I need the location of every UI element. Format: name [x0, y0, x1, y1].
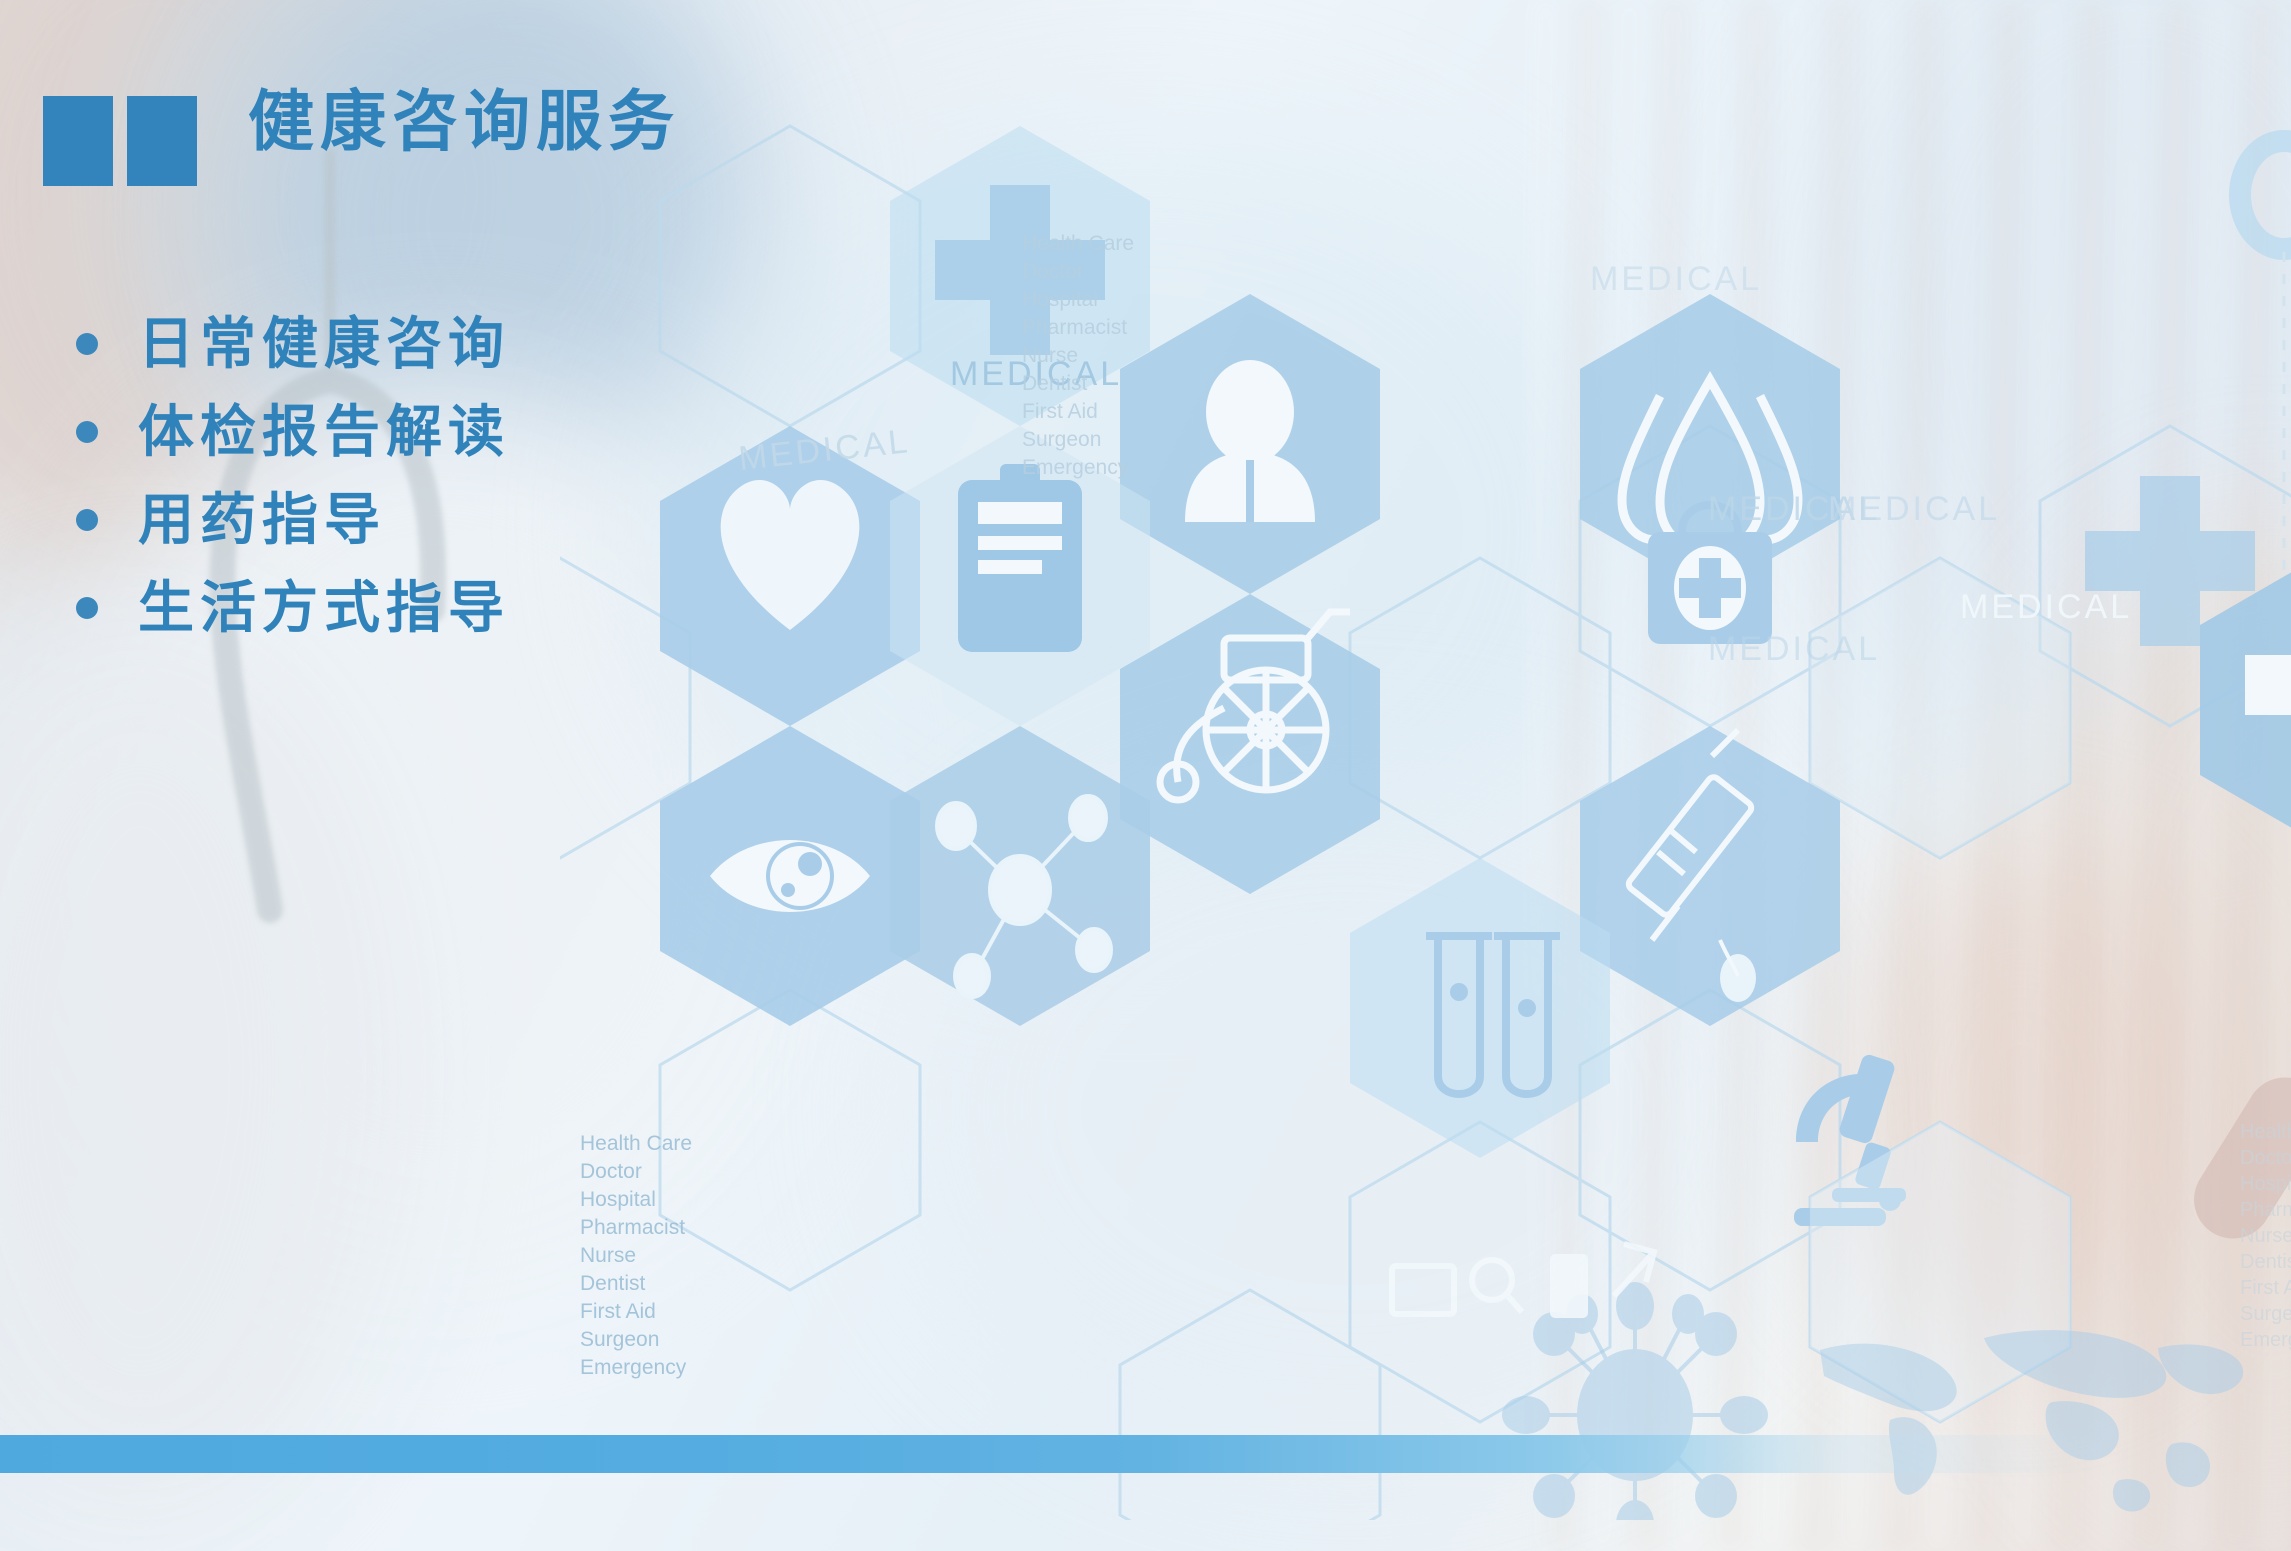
svg-text:Surgeon: Surgeon: [1022, 428, 1101, 451]
hexagon-infographic: MEDICAL MEDICAL MEDICAL MEDICAL MEDICAL …: [560, 40, 2291, 1520]
word-list-right: Health Care Doctor Hospital Pharmacist N…: [2240, 1121, 2291, 1351]
svg-text:Surgeon: Surgeon: [580, 1328, 659, 1351]
svg-text:Pharmacist: Pharmacist: [2240, 1199, 2291, 1221]
svg-text:Nurse: Nurse: [1022, 344, 1078, 367]
list-item: 体检报告解读: [76, 388, 636, 476]
svg-text:Dentist: Dentist: [1022, 372, 1088, 395]
svg-text:Pharmacist: Pharmacist: [1022, 316, 1127, 339]
bullet-dot-icon: [76, 421, 98, 443]
list-item-label: 体检报告解读: [138, 404, 510, 460]
world-map-icon: [1820, 1330, 2243, 1511]
list-item: 用药指导: [76, 476, 636, 564]
list-item-label: 生活方式指导: [138, 580, 510, 636]
list-item: 生活方式指导: [76, 564, 636, 652]
svg-text:Hospital: Hospital: [580, 1188, 656, 1211]
hex-filled-group: [660, 126, 2291, 1422]
ui-sketch-marks: [1392, 1244, 1654, 1318]
svg-text:First Aid: First Aid: [2240, 1277, 2291, 1299]
title-decor-square-right: [127, 96, 197, 186]
bottom-accent-bar: [0, 1435, 2291, 1473]
bullet-dot-icon: [76, 597, 98, 619]
title-decor-square-left: [43, 96, 113, 186]
svg-text:Emergency: Emergency: [1022, 456, 1129, 479]
svg-text:Health Care: Health Care: [2240, 1121, 2291, 1143]
svg-text:Hospital: Hospital: [1022, 288, 1098, 311]
svg-text:Pharmacist: Pharmacist: [580, 1216, 685, 1239]
slide-canvas: MEDICAL MEDICAL MEDICAL MEDICAL MEDICAL …: [0, 0, 2291, 1551]
svg-text:Surgeon: Surgeon: [2240, 1303, 2291, 1325]
svg-text:Emergency: Emergency: [2240, 1329, 2291, 1351]
svg-text:Doctor: Doctor: [580, 1160, 642, 1183]
page-title: 健康咨询服务: [248, 82, 680, 161]
svg-text:First Aid: First Aid: [580, 1300, 656, 1323]
svg-text:Doctor: Doctor: [2240, 1147, 2291, 1169]
medical-label: MEDICAL: [1708, 630, 1880, 668]
svg-text:Dentist: Dentist: [2240, 1251, 2291, 1273]
svg-text:First Aid: First Aid: [1022, 400, 1098, 423]
svg-text:Dentist: Dentist: [580, 1272, 646, 1295]
word-list-bottom: Health Care Doctor Hospital Pharmacist N…: [580, 1132, 692, 1379]
svg-text:Health Care: Health Care: [1022, 232, 1134, 255]
svg-text:Nurse: Nurse: [580, 1244, 636, 1267]
clipboard-icon: [958, 464, 1082, 652]
bullet-list: 日常健康咨询 体检报告解读 用药指导 生活方式指导: [76, 300, 636, 652]
svg-text:Nurse: Nurse: [2240, 1225, 2291, 1247]
virus-icon: [1502, 1282, 1768, 1520]
list-item-label: 用药指导: [138, 492, 386, 548]
svg-text:Doctor: Doctor: [1022, 260, 1084, 283]
svg-text:Hospital: Hospital: [2240, 1173, 2291, 1195]
medical-label: MEDICAL: [1828, 490, 2000, 528]
medical-label: MEDICAL: [1590, 260, 1762, 298]
list-item: 日常健康咨询: [76, 300, 636, 388]
ring-icon: [2240, 141, 2291, 580]
list-item-label: 日常健康咨询: [138, 316, 510, 372]
svg-text:Emergency: Emergency: [580, 1356, 687, 1379]
svg-text:Health Care: Health Care: [580, 1132, 692, 1155]
bullet-dot-icon: [76, 509, 98, 531]
medical-label: MEDICAL: [1960, 588, 2132, 626]
bullet-dot-icon: [76, 333, 98, 355]
